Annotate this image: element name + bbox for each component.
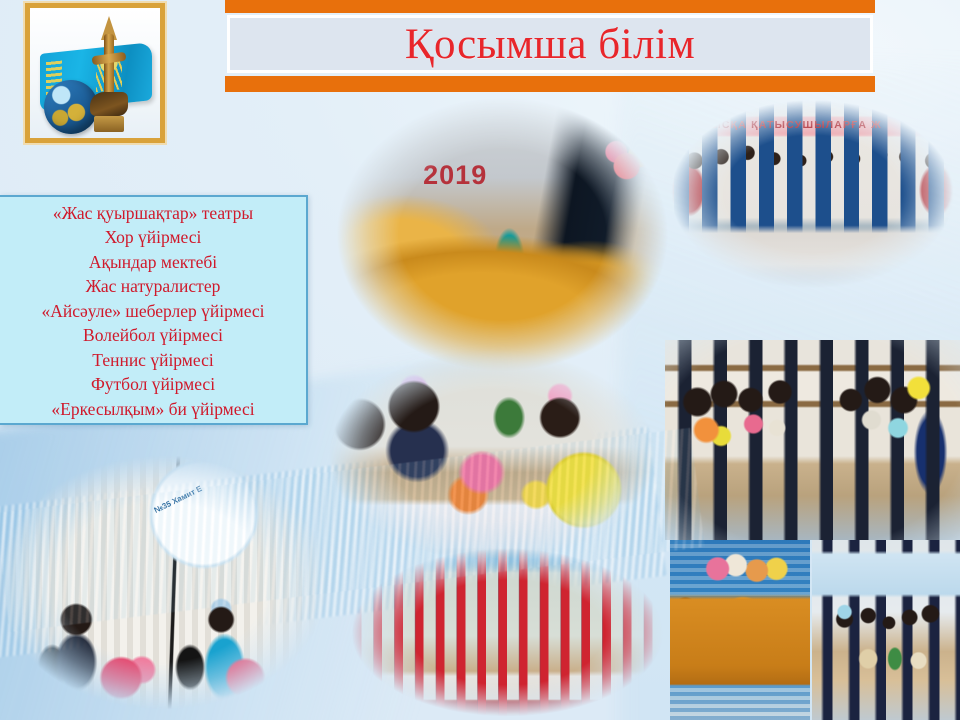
photo-craft-models (812, 540, 960, 720)
dance-backdrop-year: 2019 (423, 160, 487, 191)
photo-puppet-theatre-stage (670, 540, 810, 720)
kazakhstan-emblem-icon (25, 3, 165, 143)
list-item: «Айсәуле» шеберлер үйірмесі (6, 299, 300, 324)
photo-dance-image (330, 92, 675, 377)
list-item: «Жас қуыршақтар» театры (6, 201, 300, 226)
banner-top-bar (225, 0, 875, 13)
list-item: «Еркесылқым» би үйірмесі (6, 397, 300, 422)
photo-dombra-image (0, 450, 335, 715)
photo-puppet-image (665, 340, 960, 540)
list-item: Волейбол үйірмесі (6, 323, 300, 348)
photo-craft-image (322, 345, 662, 565)
list-item: Теннис үйірмесі (6, 348, 300, 373)
page-title: Қосымша білім (405, 23, 695, 66)
photo-craft-workshop (322, 345, 662, 565)
monument-horse (90, 92, 128, 116)
clubs-list-box: «Жас қуыршақтар» театры Хор үйірмесі Ақы… (0, 195, 308, 425)
photo-models-image (812, 540, 960, 720)
photo-school-choir (345, 545, 670, 720)
monument-icon (92, 16, 126, 134)
list-item: Хор үйірмесі (6, 225, 300, 250)
title-banner: Қосымша білім (225, 0, 875, 92)
photo-puppet-children (665, 340, 960, 540)
list-item: Ақындар мектебі (6, 250, 300, 275)
photo-volleyball-team: ЖАРЫСҚА ҚАТЫСУШЫЛАРҒА Ж (665, 96, 960, 292)
photo-stage-image (670, 540, 810, 720)
slide-canvas: 2019 ЖАРЫСҚА ҚАТЫСУШЫЛАРҒА Ж №35 Хамит Е… (0, 0, 960, 720)
list-item: Жас натуралистер (6, 274, 300, 299)
banner-plate: Қосымша білім (227, 15, 873, 73)
photo-dance-performance: 2019 (330, 92, 675, 377)
banner-bottom-bar (225, 76, 875, 92)
volleyball-banner-text: ЖАРЫСҚА ҚАТЫСУШЫЛАРҒА Ж (683, 119, 882, 131)
photo-choir-image (345, 545, 670, 720)
list-item: Футбол үйірмесі (6, 372, 300, 397)
photo-dombra-stage: №35 Хамит Е (0, 450, 335, 715)
monument-base (94, 116, 124, 132)
